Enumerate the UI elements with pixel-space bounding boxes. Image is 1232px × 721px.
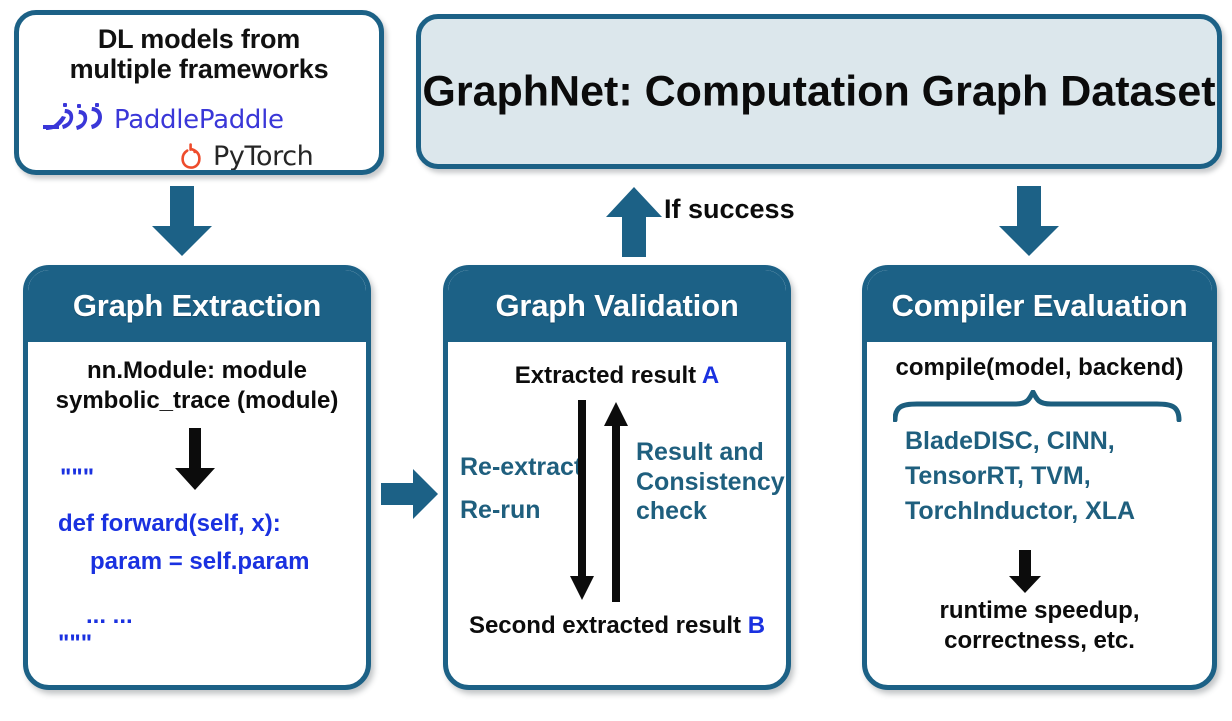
validation-label-consistency: Consistency (636, 468, 785, 498)
validation-result-a: Extracted result A (448, 362, 786, 390)
compiler-upward-brace-icon (893, 390, 1183, 427)
extraction-down-arrow-icon (172, 428, 218, 497)
stage-card-graph-validation: Graph Validation Extracted result A Re-e… (443, 265, 791, 690)
paddlepaddle-logo-icon (43, 103, 105, 137)
compiler-output-line1: runtime speedup, (867, 596, 1212, 626)
validation-result-b: Second extracted result B (448, 612, 786, 640)
stage-body-compiler-evaluation: compile(model, backend) BladeDISC, CINN,… (867, 342, 1212, 685)
stage-body-graph-validation: Extracted result A Re-extract Re-run Res… (448, 342, 786, 685)
graphnet-dataset-banner: GraphNet: Computation Graph Dataset (416, 14, 1222, 169)
validation-label-check: check (636, 497, 785, 527)
paddlepaddle-logo-row: PaddlePaddle (43, 103, 284, 137)
extraction-line-open-docstring: """ (60, 462, 94, 493)
dl-models-source-box: DL models from multiple frameworks (14, 10, 384, 175)
compiler-backends-line1: BladeDISC, CINN, (905, 424, 1135, 459)
pytorch-logo-row: PyTorch (179, 141, 313, 172)
validation-left-labels: Re-extract Re-run (460, 446, 582, 532)
pytorch-label: PyTorch (213, 141, 313, 172)
extraction-line-close-docstring: """ (58, 628, 92, 659)
compiler-down-arrow-icon (1007, 550, 1043, 599)
validation-label-re-run: Re-run (460, 489, 582, 532)
compiler-output-line2: correctness, etc. (867, 626, 1212, 656)
arrow-validation-to-graphnet-icon (604, 186, 664, 258)
paddlepaddle-label: PaddlePaddle (114, 105, 284, 135)
validation-arrow-pair-icon (570, 400, 632, 607)
arrow-source-to-extraction-icon (150, 186, 214, 258)
stage-header-compiler-evaluation: Compiler Evaluation (867, 270, 1212, 342)
stage-card-compiler-evaluation: Compiler Evaluation compile(model, backe… (862, 265, 1217, 690)
validation-label-re-extract: Re-extract (460, 446, 582, 489)
pytorch-logo-icon (179, 143, 205, 171)
diagram-canvas: DL models from multiple frameworks (0, 0, 1232, 721)
validation-result-b-text: Second extracted result (469, 612, 748, 639)
graphnet-title: GraphNet: Computation Graph Dataset (421, 68, 1217, 115)
stage-header-graph-validation: Graph Validation (448, 270, 786, 342)
validation-result-b-letter: B (748, 612, 765, 639)
extraction-line-symbolic-trace: symbolic_trace (module) (28, 386, 366, 416)
graphnet-title-strong: GraphNet: (422, 67, 632, 115)
arrow-extraction-to-validation-icon (381, 468, 439, 520)
extraction-line-nn-module: nn.Module: module (28, 356, 366, 386)
stage-header-graph-extraction: Graph Extraction (28, 270, 366, 342)
extraction-line-def-forward: def forward(self, x): (58, 508, 281, 539)
source-box-title-line1: DL models from (33, 24, 365, 54)
stage-card-graph-extraction: Graph Extraction nn.Module: module symbo… (23, 265, 371, 690)
arrow-graphnet-to-compiler-icon (997, 186, 1061, 258)
validation-result-a-letter: A (702, 362, 719, 389)
validation-right-labels: Result and Consistency check (636, 438, 785, 527)
if-success-label: If success (664, 194, 795, 225)
extraction-signature-block: nn.Module: module symbolic_trace (module… (28, 356, 366, 416)
compiler-backend-list: BladeDISC, CINN, TensorRT, TVM, TorchInd… (905, 424, 1135, 529)
compiler-call-signature: compile(model, backend) (867, 354, 1212, 382)
validation-label-result-and: Result and (636, 438, 785, 468)
compiler-backends-line3: TorchInductor, XLA (905, 494, 1135, 529)
stage-body-graph-extraction: nn.Module: module symbolic_trace (module… (28, 342, 366, 685)
extraction-line-param-assign: param = self.param (90, 546, 309, 577)
source-box-title-line2: multiple frameworks (33, 54, 365, 84)
compiler-backends-line2: TensorRT, TVM, (905, 459, 1135, 494)
graphnet-title-rest: Computation Graph Dataset (633, 67, 1216, 115)
compiler-outputs: runtime speedup, correctness, etc. (867, 596, 1212, 656)
validation-result-a-text: Extracted result (515, 362, 702, 389)
extraction-line-ellipsis: ... ... (86, 600, 133, 631)
